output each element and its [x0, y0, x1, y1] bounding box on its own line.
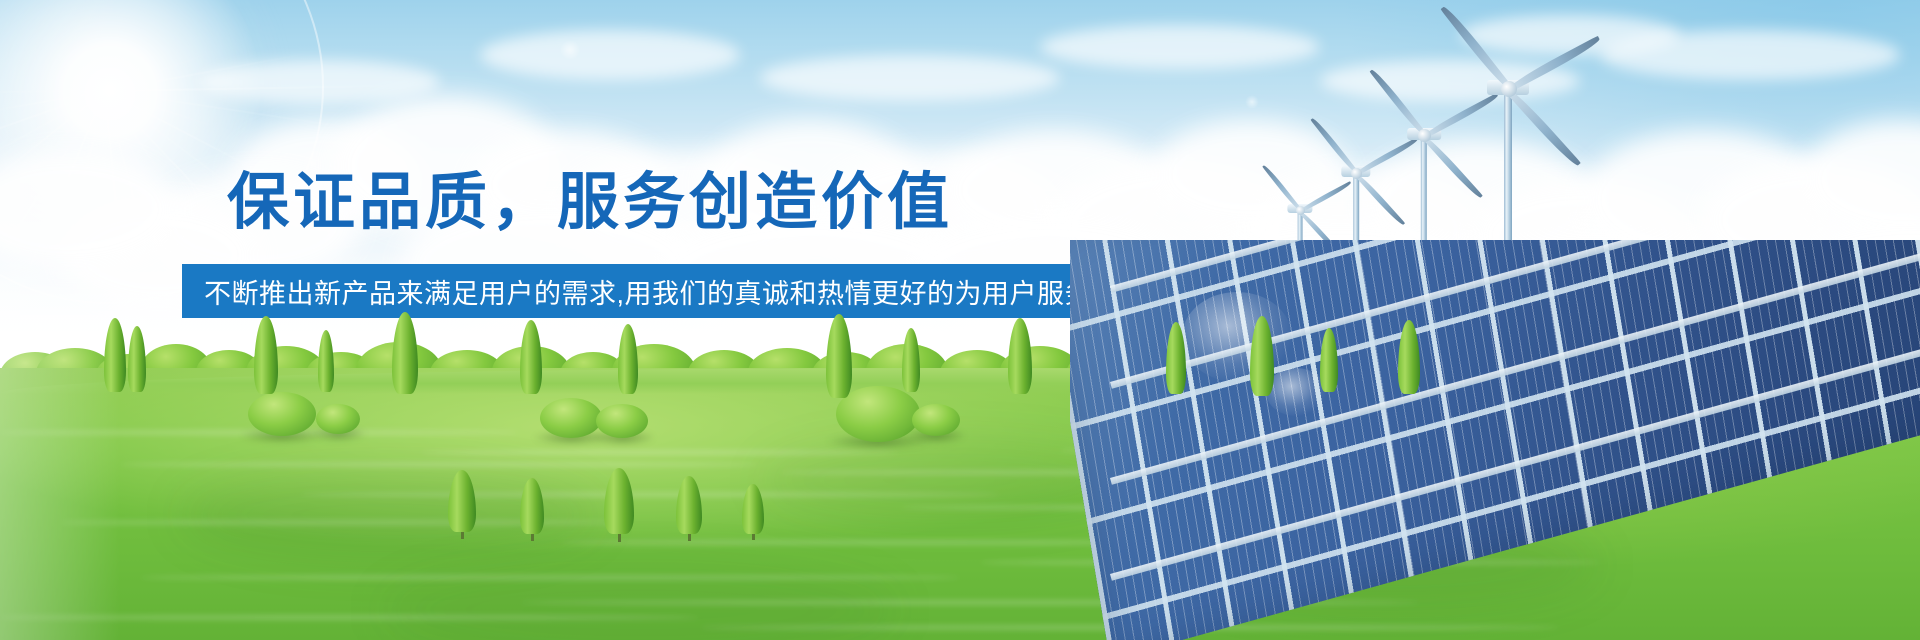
cypress-tree: [392, 312, 418, 394]
hero-banner: 保证品质，服务创造价值 不断推出新产品来满足用户的需求,用我们的真诚和热情更好的…: [0, 0, 1920, 640]
turbine-blade: [1505, 85, 1581, 168]
bush: [540, 398, 602, 438]
mow-stripe: [120, 462, 760, 467]
cloud-wisp: [200, 60, 440, 104]
cloud-wisp: [760, 55, 1060, 101]
cypress-tree: [318, 330, 334, 392]
cypress-tree: [826, 314, 852, 398]
cypress-tree: [104, 318, 126, 392]
cloud-wisp: [480, 30, 740, 80]
cypress-tree: [254, 316, 278, 394]
photovoltaic-panel-surface: [1070, 240, 1920, 640]
lens-flare-dot: [1245, 95, 1259, 109]
bush: [316, 404, 360, 434]
cloud-wisp: [1040, 25, 1320, 69]
bush: [248, 392, 316, 436]
bush: [912, 404, 960, 436]
cypress-tree: [128, 326, 146, 392]
cypress-tree: [1008, 318, 1032, 394]
left-edge-fade: [0, 0, 120, 640]
solar-panel-array: [1070, 240, 1920, 640]
cypress-tree: [618, 324, 638, 394]
turbine-hub: [1501, 81, 1517, 97]
cypress-tree: [902, 328, 920, 392]
page-title: 保证品质，服务创造价值: [0, 168, 1180, 237]
panel-glare-spot: [1266, 368, 1326, 416]
bush: [596, 404, 648, 438]
cypress-tree: [520, 320, 542, 394]
